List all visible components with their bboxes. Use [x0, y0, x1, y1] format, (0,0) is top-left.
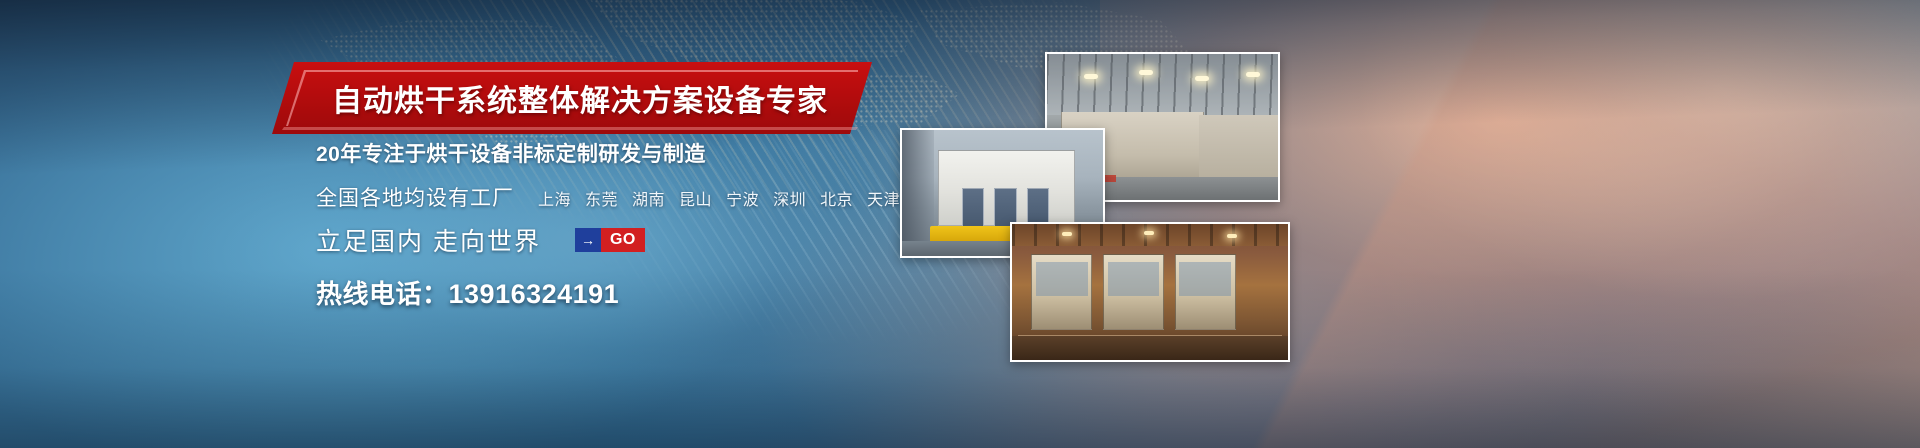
photo-c-machine-window	[1179, 262, 1231, 295]
hotline-row: 热线电话： 13916324191	[316, 274, 956, 311]
factory-cities-row: 全国各地均设有工厂 上海 东莞 湖南 昆山 宁波 深圳 北京 天津	[316, 182, 956, 212]
photo-c-machine-unit	[1103, 254, 1164, 330]
subtitle-text: 20年专注于烘干设备非标定制研发与制造	[316, 138, 956, 168]
go-button-label: GO	[601, 228, 645, 252]
city-shenzhen: 深圳	[773, 186, 806, 210]
page-title: 自动烘干系统整体解决方案设备专家	[272, 62, 872, 134]
photo-a-equipment-wall-right	[1199, 115, 1278, 185]
photo-c-machine-window	[1036, 262, 1088, 295]
photo-a-roof-trusses	[1047, 54, 1278, 115]
photo-a-lamp	[1139, 70, 1153, 75]
hotline-label: 热线电话：	[316, 274, 449, 311]
slogan-text: 立足国内 走向世界	[316, 222, 541, 258]
photo-c-ceiling	[1012, 224, 1288, 246]
photo-c-machine-unit	[1031, 254, 1092, 330]
photo-c-lamp	[1227, 234, 1237, 238]
photo-c-lamp	[1144, 231, 1154, 235]
hotline-number[interactable]: 13916324191	[449, 279, 620, 310]
photo-c-machine-unit	[1175, 254, 1236, 330]
city-hunan: 湖南	[632, 186, 665, 210]
photo-a-lamp	[1246, 72, 1260, 77]
photo-c-floor	[1012, 336, 1288, 360]
photo-collage	[890, 0, 1920, 448]
city-shanghai: 上海	[538, 186, 571, 210]
photo-c-machine-window	[1108, 262, 1160, 295]
city-ningbo: 宁波	[726, 186, 759, 210]
photo-a-lamp	[1195, 76, 1209, 81]
headline-ribbon: 自动烘干系统整体解决方案设备专家	[272, 62, 872, 134]
banner-copy-block: 20年专注于烘干设备非标定制研发与制造 全国各地均设有工厂 上海 东莞 湖南 昆…	[316, 138, 956, 311]
factories-label: 全国各地均设有工厂	[316, 182, 514, 212]
city-kunshan: 昆山	[679, 186, 712, 210]
photo-production-line	[1010, 222, 1290, 362]
photo-a-lamp	[1084, 74, 1098, 79]
city-dongguan: 东莞	[585, 186, 618, 210]
city-beijing: 北京	[820, 186, 853, 210]
promo-banner: 自动烘干系统整体解决方案设备专家 20年专注于烘干设备非标定制研发与制造 全国各…	[0, 0, 1920, 448]
arrow-right-icon: →	[575, 228, 601, 252]
photo-c-lamp	[1062, 232, 1072, 236]
go-button[interactable]: → GO	[575, 228, 645, 252]
slogan-row: 立足国内 走向世界 → GO	[316, 222, 956, 258]
